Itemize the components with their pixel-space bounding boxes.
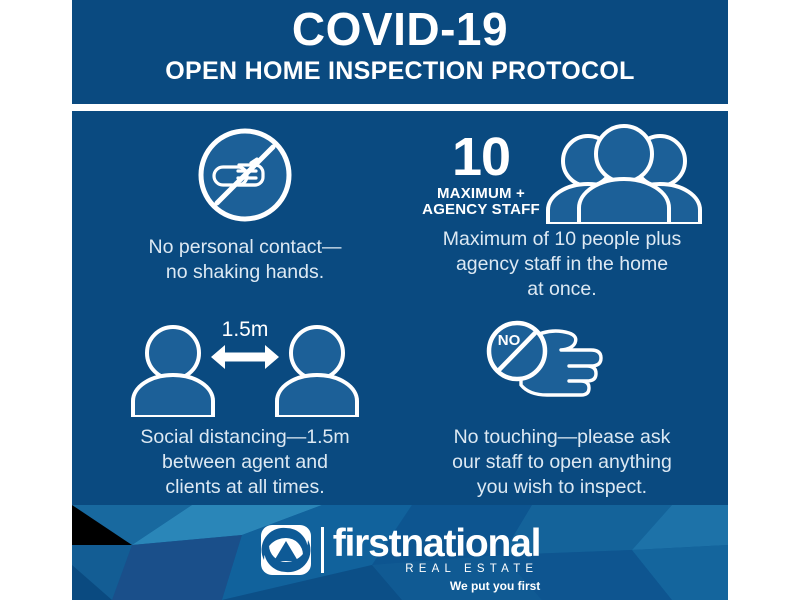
two-people-distance-icon: 1.5m: [129, 311, 361, 417]
logo-text-block: firstnational REAL ESTATE We put you fir…: [333, 524, 541, 576]
distance-measure-label: 1.5m: [222, 318, 269, 341]
header-divider: [72, 104, 728, 111]
double-arrow-icon: [211, 345, 279, 369]
protocol-item-caption: No personal contact— no shaking hands.: [90, 235, 400, 285]
protocol-item-caption: No touching—please ask our staff to open…: [402, 425, 722, 500]
icon-slot: 1.5m: [90, 311, 400, 417]
logo-divider: [321, 527, 324, 573]
protocol-item-social-distancing: 1.5m Social distancing—1.5m between agen…: [90, 311, 400, 500]
three-people-icon: [546, 124, 702, 224]
first-national-swirl-logo-icon: [260, 524, 312, 576]
protocol-grid: No personal contact— no shaking hands. 1…: [72, 111, 728, 505]
protocol-item-no-personal-contact: No personal contact— no shaking hands.: [90, 121, 400, 285]
icon-slot: NO: [402, 311, 722, 417]
protocol-item-maximum-people: 10 MAXIMUM + AGENCY STAFF Maximum of 10 …: [402, 121, 722, 302]
page-subtitle: OPEN HOME INSPECTION PROTOCOL: [72, 53, 728, 86]
poster-footer: firstnational REAL ESTATE We put you fir…: [72, 505, 728, 600]
poster-header: COVID-19 OPEN HOME INSPECTION PROTOCOL: [72, 0, 728, 104]
page-title: COVID-19: [72, 0, 728, 53]
brand-logo: firstnational REAL ESTATE We put you fir…: [72, 505, 728, 600]
poster: COVID-19 OPEN HOME INSPECTION PROTOCOL: [72, 0, 728, 600]
protocol-item-caption: Maximum of 10 people plus agency staff i…: [402, 227, 722, 302]
max-number: 10: [422, 130, 540, 184]
no-badge-icon: NO: [489, 323, 545, 379]
protocol-item-no-touching: NO No touching—please ask our staff to o…: [402, 311, 722, 500]
icon-slot: [90, 121, 400, 227]
max-number-label: MAXIMUM + AGENCY STAFF: [422, 186, 540, 218]
brand-name: firstnational: [333, 524, 541, 563]
no-handshake-icon: [193, 123, 297, 227]
protocol-item-caption: Social distancing—1.5m between agent and…: [90, 425, 400, 500]
brand-tagline: We put you first: [450, 580, 540, 592]
no-pointing-hand-icon: NO: [469, 311, 655, 417]
icon-slot: 10 MAXIMUM + AGENCY STAFF: [402, 121, 722, 227]
brand-subtitle: REAL ESTATE: [333, 564, 541, 576]
max-number-block: 10 MAXIMUM + AGENCY STAFF: [422, 130, 540, 218]
no-badge-label: NO: [498, 332, 521, 349]
